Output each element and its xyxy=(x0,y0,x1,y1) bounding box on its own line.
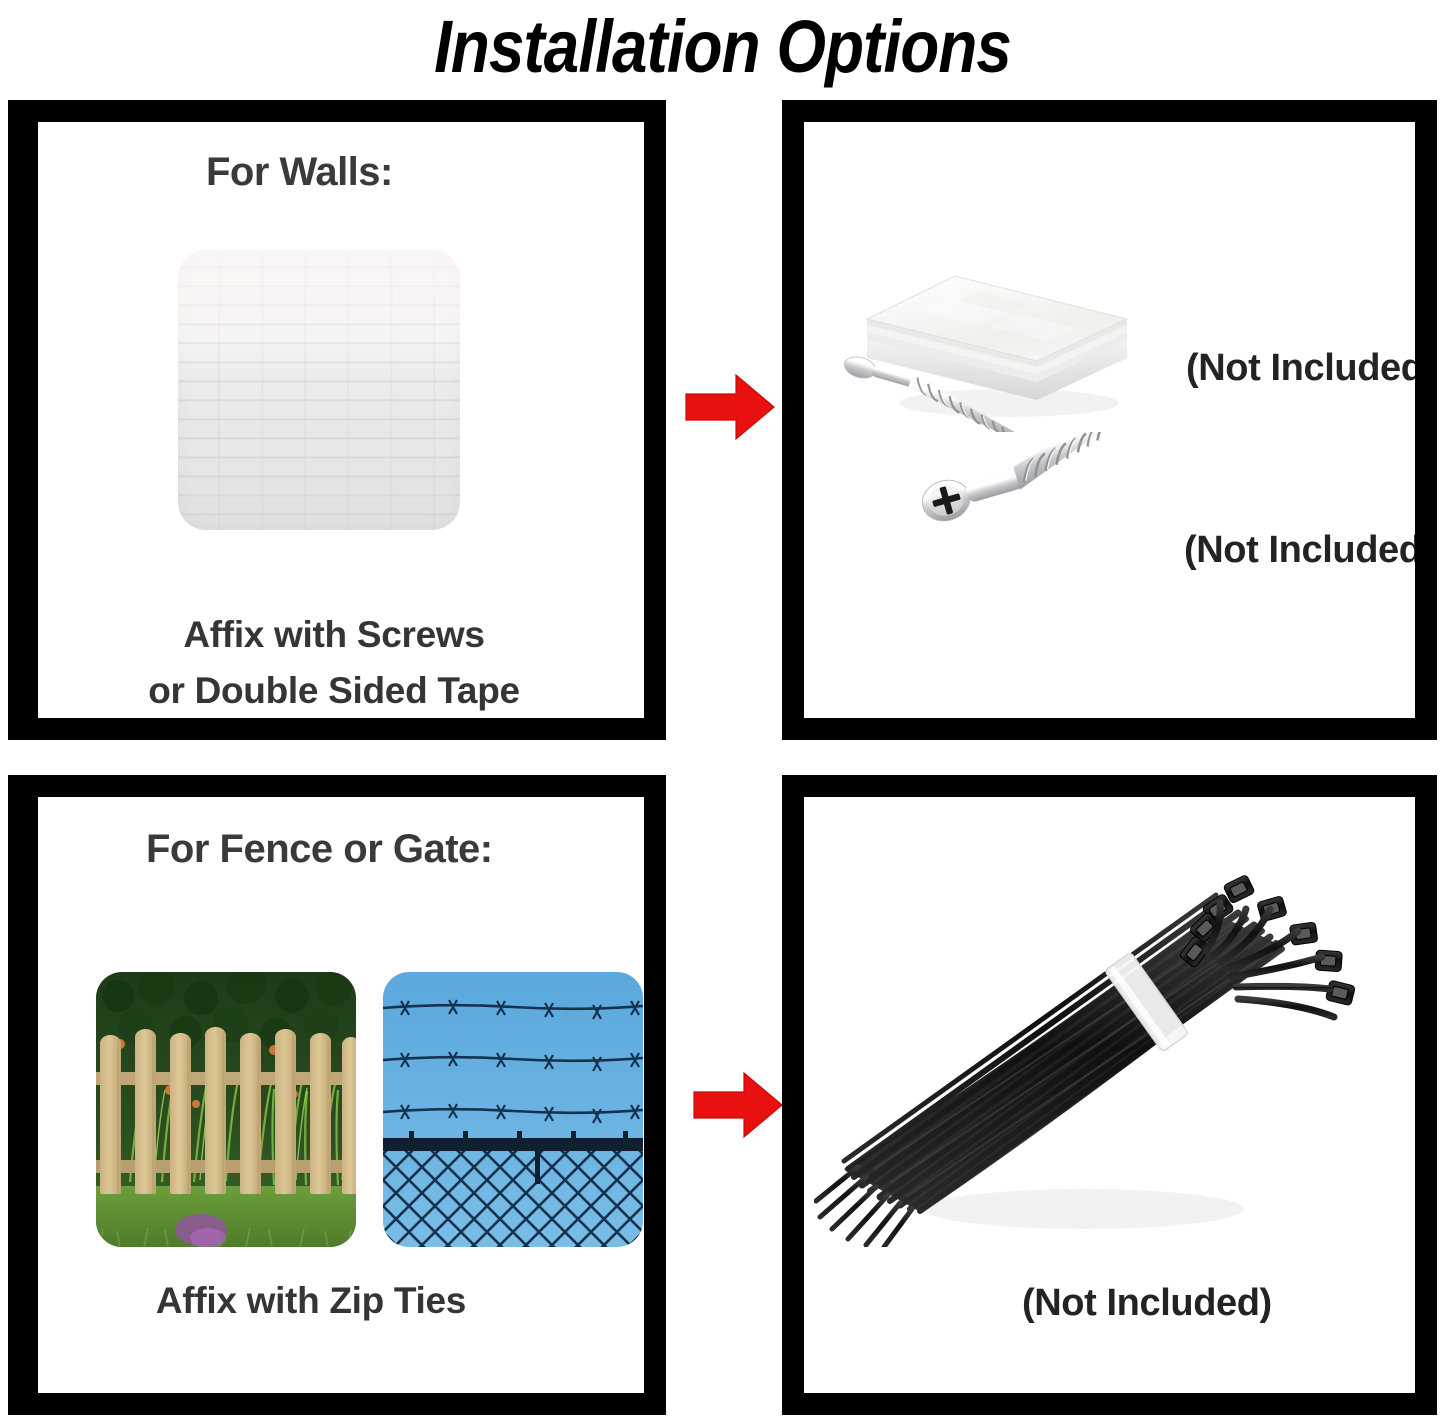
page-title: Installation Options xyxy=(101,0,1344,92)
caption-or-double-sided-tape: or Double Sided Tape xyxy=(38,670,637,712)
panel-fence-hardware-content: (Not Included) xyxy=(804,797,1415,1393)
panel-for-fence-or-gate: For Fence or Gate: xyxy=(8,775,666,1415)
panel-for-fence-or-gate-content: For Fence or Gate: xyxy=(38,797,644,1393)
note-zip-ties-not-included: (Not Included) xyxy=(1022,1282,1272,1325)
panel-heading-for-fence-or-gate: For Fence or Gate: xyxy=(146,827,493,872)
arrow-right-icon xyxy=(684,372,776,442)
panel-wall-hardware: (Not Included) xyxy=(782,100,1437,740)
panel-wall-hardware-content: (Not Included) xyxy=(804,122,1415,718)
panel-fence-hardware: (Not Included) xyxy=(782,775,1437,1415)
panel-heading-for-walls: For Walls: xyxy=(206,150,393,195)
white-brick-wall-swatch-image xyxy=(178,250,460,530)
wood-screw-icon-lower xyxy=(914,432,1154,527)
wooden-picket-fence-image xyxy=(96,972,356,1247)
note-tape-not-included: (Not Included) xyxy=(1186,347,1415,390)
panel-for-walls: For Walls: Affix with Screws or Double S… xyxy=(8,100,666,740)
arrow-right-icon xyxy=(692,1070,784,1140)
note-screws-not-included: (Not Included) xyxy=(1184,529,1415,572)
wood-screw-icon-upper xyxy=(842,352,1072,432)
black-zip-tie-bundle-image xyxy=(814,817,1374,1247)
panel-for-walls-content: For Walls: Affix with Screws or Double S… xyxy=(38,122,644,718)
caption-affix-with-zip-ties: Affix with Zip Ties xyxy=(38,1280,614,1322)
chain-link-barbed-wire-fence-image xyxy=(383,972,643,1247)
caption-affix-with-screws: Affix with Screws xyxy=(38,614,637,656)
